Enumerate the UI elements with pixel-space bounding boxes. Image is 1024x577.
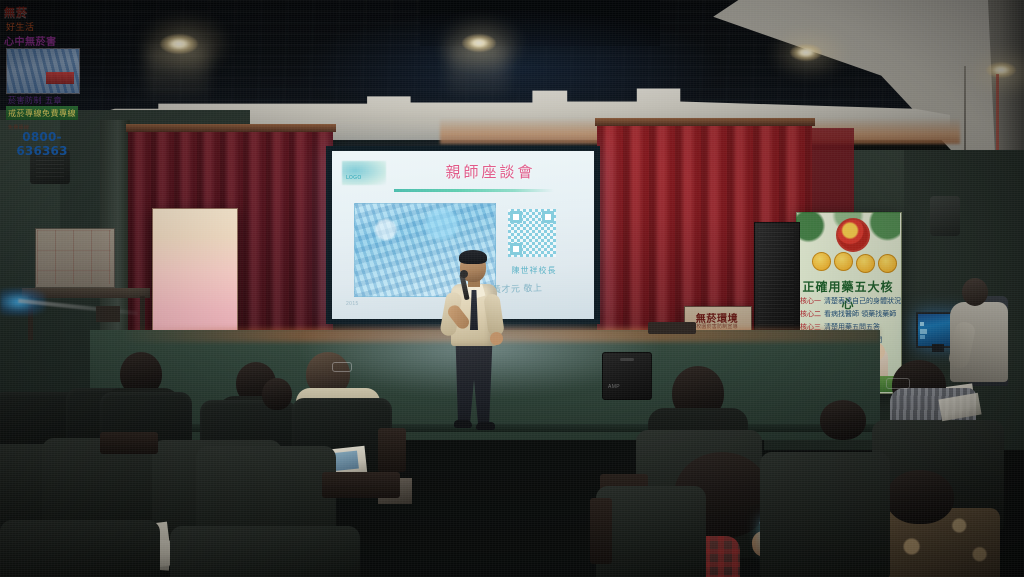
- mascot-icon-1: [812, 252, 831, 271]
- banner-right-item-text: 清楚表達自己的身體狀況: [824, 296, 901, 306]
- seat-armrest: [100, 432, 158, 454]
- photo-scene: LOGO 親師座談會 陳世祥校長 黃才元 敬上 2015 無菸 好生活 心中無菸…: [0, 0, 1024, 577]
- mascot-icon-4: [878, 254, 897, 273]
- glasses-icon: [332, 362, 352, 372]
- mascot-icon-2: [834, 252, 853, 271]
- attendee-head: [886, 470, 954, 524]
- slide-logo-text: LOGO: [346, 175, 362, 181]
- notice-board-grid: [37, 230, 111, 284]
- seat-armrest: [590, 498, 612, 564]
- wall-speaker-right: [930, 196, 960, 236]
- banner-left-line1: 好生活: [6, 20, 78, 33]
- banner-left-line3: 心中無菸害: [4, 33, 80, 48]
- banner-left-photo-accent: [46, 72, 74, 84]
- banner-right-item: 核心二 看病找醫師 領藥找藥師: [800, 309, 896, 319]
- amplifier-handle: [620, 358, 634, 361]
- presenter-legs: [454, 342, 494, 424]
- seat-armrest: [378, 428, 406, 472]
- banner-right-item-num: 核心二: [800, 309, 821, 319]
- banner-left-title: 無菸: [4, 4, 80, 20]
- attendee-head-small: [262, 378, 292, 410]
- floor-case: [648, 322, 696, 334]
- banner-left-band-text: 戒菸專線免費專線: [8, 108, 76, 119]
- attendee-head: [820, 400, 866, 440]
- mascot-icon-3: [856, 254, 875, 273]
- banner-right-seal-icon: [836, 218, 870, 252]
- ceiling-spotlight-4: [986, 62, 1016, 78]
- box-under-table: [96, 306, 120, 322]
- slide-divider: [394, 189, 554, 192]
- monitor-stand: [932, 344, 944, 352]
- spotlight-beam-1: [146, 48, 208, 106]
- seat: [760, 452, 890, 577]
- slide-logo-icon: [342, 161, 386, 185]
- presenter-hair: [459, 250, 487, 264]
- seat: [596, 486, 706, 577]
- banner-left-mid-text: 菸害防制 五章: [8, 95, 76, 106]
- spotlight-beam-2: [448, 46, 508, 102]
- slide-title: 親師座談會: [418, 161, 563, 182]
- banner-left-photo: [6, 48, 80, 94]
- slide-qr-caption: 陳世祥校長: [504, 265, 564, 276]
- presenter-shoe-right: [476, 422, 495, 430]
- seat-armrest: [322, 472, 400, 498]
- amplifier-label: AMP: [608, 384, 620, 390]
- banner-left-phone-number: 0800-636363: [6, 130, 78, 158]
- presenter-shoe-left: [454, 420, 472, 428]
- seat: [170, 526, 360, 577]
- staff-head: [962, 278, 988, 306]
- wall-speaker-grill: [36, 156, 64, 178]
- presenter: [438, 252, 510, 438]
- glasses-icon: [886, 378, 910, 389]
- banner-right-item-text: 看病找醫師 領藥找藥師: [824, 309, 896, 319]
- curtain-rail-left: [126, 124, 336, 132]
- presenter-hand-right: [490, 332, 503, 345]
- slide-footnote: 2015: [346, 301, 359, 307]
- ceiling-spotlight-3: [790, 44, 822, 61]
- banner-right-item: 核心一 清楚表達自己的身體狀況: [800, 296, 896, 306]
- banner-right-item-num: 核心一: [800, 296, 821, 306]
- qr-code-finder-patterns: [508, 209, 556, 257]
- staff-person: [950, 278, 1012, 390]
- microphone-head-icon: [460, 270, 468, 278]
- curtain-rail-right: [595, 118, 815, 126]
- seat: [0, 520, 160, 577]
